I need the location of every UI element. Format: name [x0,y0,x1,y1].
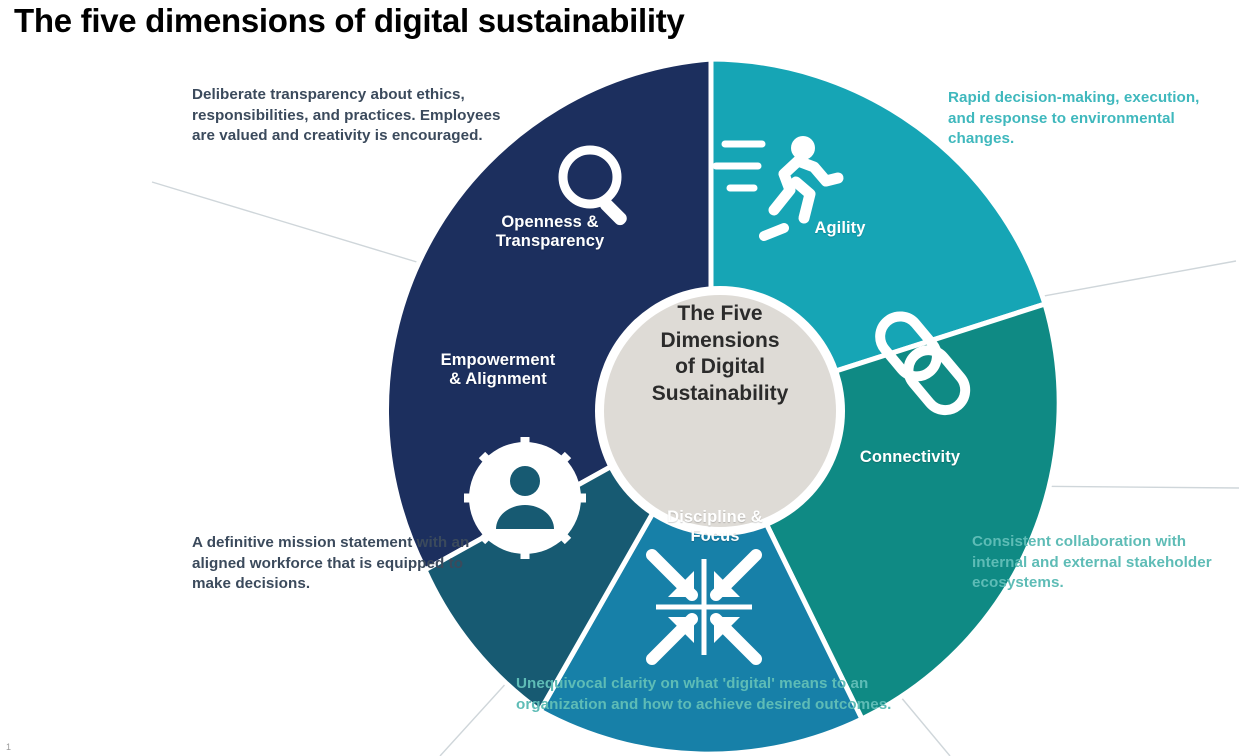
person-in-gear-icon [464,437,586,559]
callout-empowerment: A definitive mission statement with an a… [192,533,482,595]
callout-agility: Rapid decision-making, execution, and re… [948,88,1210,150]
page-number: 1 [6,742,11,752]
leader-line-openness [152,182,430,266]
callout-connectivity: Consistent collaboration with internal a… [972,532,1230,594]
center-hub [604,295,836,527]
callout-discipline: Unequivocal clarity on what 'digital' me… [516,674,912,715]
slide-canvas: The five dimensions of digital sustainab… [0,0,1239,756]
converging-arrows-icon [652,555,756,659]
callout-openness: Deliberate transparency about ethics, re… [192,85,502,147]
wheel-graphic: .wedge { stroke: #ffffff; stroke-width: … [0,56,1239,756]
five-dimensions-wheel-diagram: .wedge { stroke: #ffffff; stroke-width: … [0,56,1239,756]
page-title: The five dimensions of digital sustainab… [14,2,684,40]
